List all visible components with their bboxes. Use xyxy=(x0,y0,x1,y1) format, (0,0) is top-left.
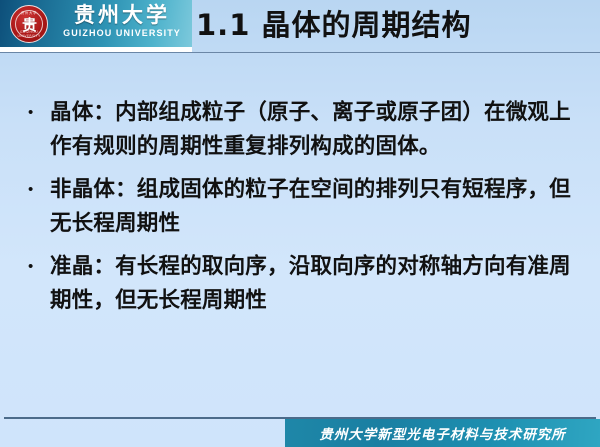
bullet-text-amorphous: 非晶体：组成固体的粒子在空间的排列只有短程序，但无长程周期性 xyxy=(50,173,576,240)
bullet-marker-icon: • xyxy=(28,173,50,197)
seal-ring-bottom-text: GUIZHOU UNIVERSITY xyxy=(11,30,47,38)
bullet-text-crystal: 晶体：内部组成粒子（原子、离子或原子团）在微观上作有规则的周期性重复排列构成的固… xyxy=(50,96,576,163)
brand-name-chinese: 贵州大学 xyxy=(56,3,188,27)
bullet-item: • 非晶体：组成固体的粒子在空间的排列只有短程序，但无长程周期性 xyxy=(28,173,576,240)
footer-band: 贵州大学新型光电子材料与技术研究所 xyxy=(285,419,600,447)
slide-title: 1.1 晶体的周期结构 xyxy=(196,3,596,47)
header-divider xyxy=(0,52,600,53)
footer-institute-name: 贵州大学新型光电子材料与技术研究所 xyxy=(285,419,600,447)
header-band-underline xyxy=(0,47,192,52)
bullet-item: • 准晶：有长程的取向序，沿取向序的对称轴方向有准周期性，但无长程周期性 xyxy=(28,250,576,317)
bullet-marker-icon: • xyxy=(28,250,50,274)
brand-name-english: GUIZHOU UNIVERSITY xyxy=(52,28,192,39)
bullet-item: • 晶体：内部组成粒子（原子、离子或原子团）在微观上作有规则的周期性重复排列构成… xyxy=(28,96,576,163)
slide-canvas: 贵州大学 贵 GUIZHOU UNIVERSITY 贵州大学 GUIZHOU U… xyxy=(0,0,600,447)
slide-body: • 晶体：内部组成粒子（原子、离子或原子团）在微观上作有规则的周期性重复排列构成… xyxy=(28,96,576,327)
university-seal-icon: 贵州大学 贵 GUIZHOU UNIVERSITY xyxy=(10,5,48,43)
bullet-text-quasicrystal: 准晶：有长程的取向序，沿取向序的对称轴方向有准周期性，但无长程周期性 xyxy=(50,250,576,317)
bullet-marker-icon: • xyxy=(28,96,50,120)
